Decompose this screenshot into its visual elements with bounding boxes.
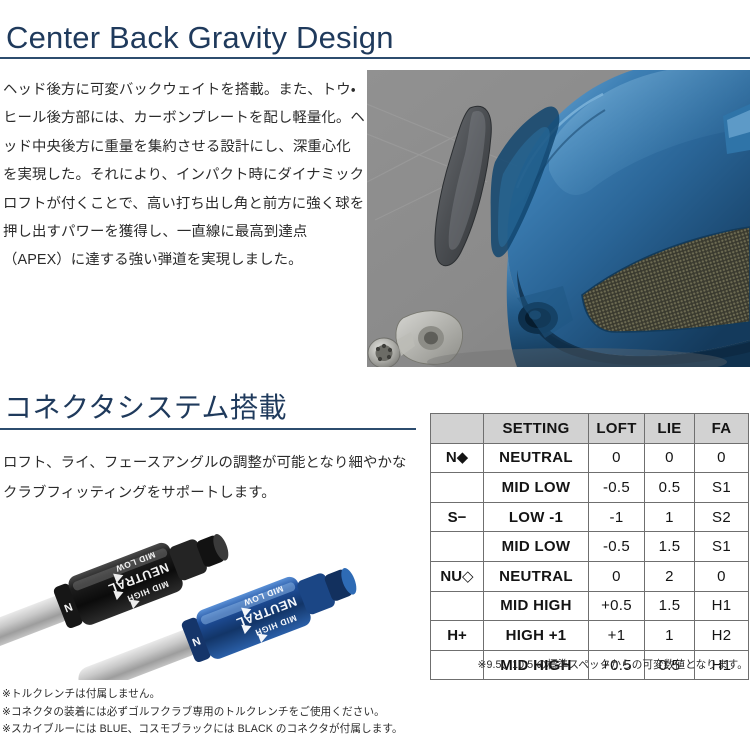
table-row: N◆ NEUTRAL 0 0 0 bbox=[431, 443, 749, 473]
weight-screw-bore bbox=[424, 332, 438, 345]
page-title: Center Back Gravity Design bbox=[6, 20, 394, 56]
title-divider bbox=[0, 57, 750, 59]
cell-fa: S2 bbox=[695, 502, 749, 532]
driver-head-illustration bbox=[367, 70, 750, 367]
product-detail-page: Center Back Gravity Design ヘッド後方に可変バックウェ… bbox=[0, 0, 750, 750]
section2-body: ロフト、ライ、フェースアングルの調整が可能となり細やかなクラブフィッティングをサ… bbox=[3, 448, 413, 508]
cell-lie: 0 bbox=[645, 443, 695, 473]
cell-code: NU◇ bbox=[431, 561, 484, 591]
cell-setting: MID HIGH bbox=[484, 591, 589, 621]
adjustment-spec-table: SETTING LOFT LIE FA N◆ NEUTRAL 0 0 0 MID… bbox=[430, 413, 749, 680]
cell-lie: 1.5 bbox=[645, 591, 695, 621]
cell-fa: H2 bbox=[695, 621, 749, 651]
cell-loft: 0 bbox=[589, 561, 645, 591]
cell-setting: MID LOW bbox=[484, 532, 589, 562]
section2-divider bbox=[0, 428, 416, 430]
table-row: NU◇ NEUTRAL 0 2 0 bbox=[431, 561, 749, 591]
cell-loft: 0 bbox=[589, 443, 645, 473]
header-lie: LIE bbox=[645, 414, 695, 444]
cell-code bbox=[431, 473, 484, 503]
cell-code: S− bbox=[431, 502, 484, 532]
torx-bolt bbox=[368, 338, 400, 367]
cell-loft: -1 bbox=[589, 502, 645, 532]
cell-fa: S1 bbox=[695, 532, 749, 562]
cell-lie: 1.5 bbox=[645, 532, 695, 562]
connector-sleeves-image: MID HIGH NEUTRAL MID LOW N bbox=[0, 508, 420, 680]
table-row: S− LOW -1 -1 1 S2 bbox=[431, 502, 749, 532]
section2-title: コネクタシステム搭載 bbox=[4, 391, 287, 424]
table-row: MID HIGH +0.5 1.5 H1 bbox=[431, 591, 749, 621]
cell-setting: NEUTRAL bbox=[484, 443, 589, 473]
cell-fa: H1 bbox=[695, 591, 749, 621]
header-setting: SETTING bbox=[484, 414, 589, 444]
table-row: MID LOW -0.5 1.5 S1 bbox=[431, 532, 749, 562]
bottom-note-2: ※コネクタの装着には必ずゴルフクラブ専用のトルクレンチをご使用ください。 bbox=[2, 704, 602, 722]
cell-loft: -0.5 bbox=[589, 532, 645, 562]
header-fa: FA bbox=[695, 414, 749, 444]
cell-lie: 2 bbox=[645, 561, 695, 591]
cell-loft: +1 bbox=[589, 621, 645, 651]
header-loft: LOFT bbox=[589, 414, 645, 444]
cell-fa: S1 bbox=[695, 473, 749, 503]
cell-setting: LOW -1 bbox=[484, 502, 589, 532]
cell-lie: 1 bbox=[645, 502, 695, 532]
spec-table-note: ※9.5、10.5 の標準スペックからの可変数値となります。 bbox=[430, 658, 748, 672]
cell-lie: 1 bbox=[645, 621, 695, 651]
cell-code: N◆ bbox=[431, 443, 484, 473]
connector-illustration: MID HIGH NEUTRAL MID LOW N bbox=[0, 508, 420, 680]
header-code bbox=[431, 414, 484, 444]
section1-body: ヘッド後方に可変バックウェイトを搭載。また、トウ・ヒール後方部には、カーボンプレ… bbox=[3, 76, 365, 275]
cell-loft: -0.5 bbox=[589, 473, 645, 503]
bottom-note-1: ※トルクレンチは付属しません。 bbox=[2, 686, 602, 704]
cell-code bbox=[431, 591, 484, 621]
cell-fa: 0 bbox=[695, 561, 749, 591]
table-row: MID LOW -0.5 0.5 S1 bbox=[431, 473, 749, 503]
cell-code bbox=[431, 532, 484, 562]
cell-setting: HIGH +1 bbox=[484, 621, 589, 651]
cell-setting: NEUTRAL bbox=[484, 561, 589, 591]
table-row: H+ HIGH +1 +1 1 H2 bbox=[431, 621, 749, 651]
table-header-row: SETTING LOFT LIE FA bbox=[431, 414, 749, 444]
driver-head-image bbox=[367, 70, 750, 367]
cell-fa: 0 bbox=[695, 443, 749, 473]
section1-paragraph: ヘッド後方に可変バックウェイトを搭載。また、トウ・ヒール後方部には、カーボンプレ… bbox=[3, 76, 365, 275]
cell-lie: 0.5 bbox=[645, 473, 695, 503]
section2-paragraph: ロフト、ライ、フェースアングルの調整が可能となり細やかなクラブフィッティングをサ… bbox=[3, 448, 413, 508]
cell-setting: MID LOW bbox=[484, 473, 589, 503]
bottom-note-3: ※スカイブルーには BLUE、コスモブラックには BLACK のコネクタが付属し… bbox=[2, 721, 602, 739]
bottom-notes: ※トルクレンチは付属しません。 ※コネクタの装着には必ずゴルフクラブ専用のトルク… bbox=[2, 686, 602, 739]
cell-code: H+ bbox=[431, 621, 484, 651]
cell-loft: +0.5 bbox=[589, 591, 645, 621]
